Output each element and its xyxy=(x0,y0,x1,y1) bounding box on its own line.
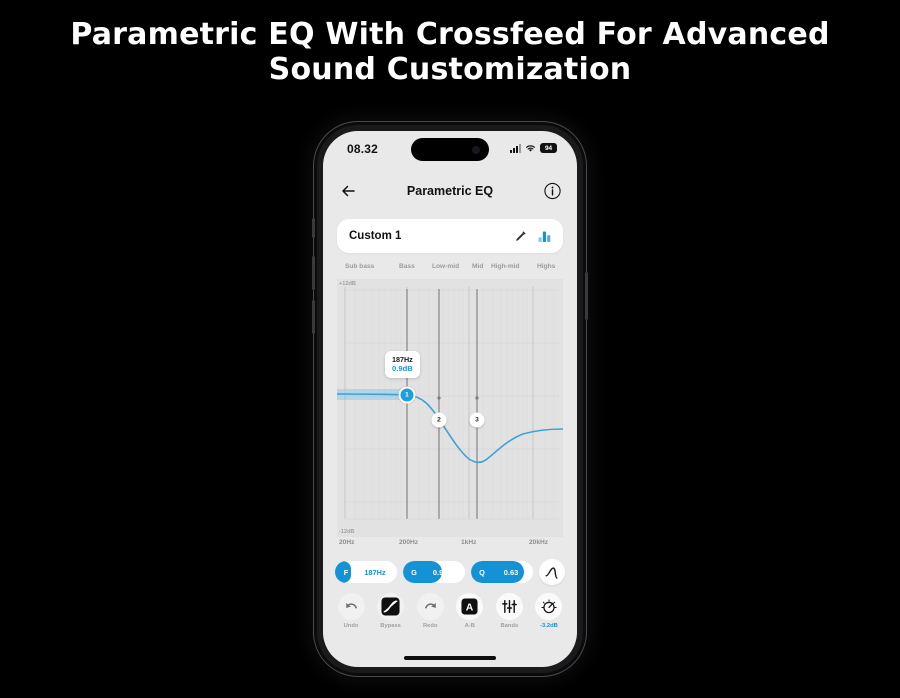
redo-icon-wrap xyxy=(417,593,444,620)
ab-compare-button[interactable]: A A-B xyxy=(452,593,488,629)
x-label-200hz: 200Hz xyxy=(399,539,418,546)
band-label-highs: Highs xyxy=(537,263,555,270)
wifi-icon xyxy=(525,144,536,153)
redo-button[interactable]: Redo xyxy=(412,593,448,629)
undo-button[interactable]: Undo xyxy=(333,593,369,629)
screen-title: Parametric EQ xyxy=(407,184,493,198)
headline-line-1: Parametric EQ With Crossfeed For Advance… xyxy=(70,17,829,52)
band-label-bass: Bass xyxy=(399,263,415,270)
front-camera-icon xyxy=(472,146,480,154)
page-title: Parametric EQ With Crossfeed For Advance… xyxy=(0,18,900,88)
back-arrow-icon[interactable] xyxy=(339,181,359,201)
gain-value: 0.9dB xyxy=(425,568,465,577)
power-button[interactable] xyxy=(585,272,588,320)
battery-indicator: 94 xyxy=(540,143,557,153)
frequency-control[interactable]: F 187Hz xyxy=(335,561,397,583)
preset-actions xyxy=(515,231,551,242)
x-label-20khz: 20kHz xyxy=(529,539,548,546)
band-label-high-mid: High-mid xyxy=(491,263,520,270)
status-bar: 08.32 94 xyxy=(323,131,577,173)
parameter-bar: F 187Hz G 0.9dB Q 0.63 xyxy=(335,559,565,585)
gain-control[interactable]: G 0.9dB xyxy=(403,561,465,583)
nav-bar: Parametric EQ xyxy=(323,173,577,209)
q-control[interactable]: Q 0.63 xyxy=(471,561,533,583)
bands-label: Bands xyxy=(501,623,519,629)
undo-arrow-icon xyxy=(344,600,359,614)
band-label-sub-bass: Sub bass xyxy=(345,263,374,270)
tooltip-gain: 0.9dB xyxy=(392,364,413,374)
eq-band-handle-1[interactable]: 1 xyxy=(399,387,416,404)
info-circle-icon[interactable] xyxy=(544,183,561,200)
redo-arrow-icon xyxy=(423,600,438,614)
cellular-signal-icon xyxy=(510,144,521,153)
ab-label: A-B xyxy=(465,623,475,629)
frequency-key: F xyxy=(335,568,357,577)
preset-bar[interactable]: Custom 1 xyxy=(337,219,563,253)
action-toolbar: Undo Bypass xyxy=(333,593,567,629)
ab-icon-wrap: A xyxy=(456,593,483,620)
silence-switch[interactable] xyxy=(312,218,315,238)
ab-compare-icon: A xyxy=(461,598,478,615)
eq-curve-icon xyxy=(545,565,560,580)
gain-key: G xyxy=(403,568,425,577)
bypass-icon-wrap xyxy=(377,593,404,620)
undo-icon-wrap xyxy=(338,593,365,620)
headline-line-2: Sound Customization xyxy=(0,53,900,88)
equalizer-bars-icon[interactable] xyxy=(538,231,551,242)
bands-button[interactable]: Bands xyxy=(491,593,527,629)
x-label-1khz: 1kHz xyxy=(461,539,476,546)
eq-band-handle-3[interactable]: 3 xyxy=(470,413,485,428)
undo-label: Undo xyxy=(344,623,359,629)
phone-screen: 08.32 94 Par xyxy=(323,131,577,667)
y-axis-min-label: -12dB xyxy=(339,529,355,535)
output-gain-label: -3.2dB xyxy=(540,623,558,629)
svg-text:A: A xyxy=(466,602,474,613)
redo-label: Redo xyxy=(423,623,438,629)
home-indicator[interactable] xyxy=(404,656,496,660)
band-tooltip: 187Hz 0.9dB xyxy=(385,351,420,378)
band-label-mid: Mid xyxy=(472,263,483,270)
tooltip-frequency: 187Hz xyxy=(392,355,413,364)
eq-curve-type-button[interactable] xyxy=(539,559,565,585)
status-indicators: 94 xyxy=(510,143,557,153)
eq-band-handle-2[interactable]: 2 xyxy=(432,413,447,428)
status-time: 08.32 xyxy=(347,142,378,156)
band-label-low-mid: Low-mid xyxy=(432,263,459,270)
screenshot-root: Parametric EQ With Crossfeed For Advance… xyxy=(0,0,900,698)
frequency-value: 187Hz xyxy=(357,568,397,577)
q-key: Q xyxy=(471,568,493,577)
eq-graph-canvas xyxy=(337,279,563,537)
band-label-row: Sub bass Bass Low-mid Mid High-mid Highs xyxy=(337,263,563,275)
pencil-icon[interactable] xyxy=(515,231,526,242)
x-label-20hz: 20Hz xyxy=(339,539,354,546)
bands-icon-wrap xyxy=(496,593,523,620)
phone-mockup: 08.32 94 Par xyxy=(314,122,586,676)
volume-up-button[interactable] xyxy=(312,256,315,290)
dynamic-island xyxy=(411,138,489,161)
x-axis-labels: 20Hz 200Hz 1kHz 20kHz xyxy=(337,539,563,551)
output-gain-button[interactable]: -3.2dB xyxy=(531,593,567,629)
preset-name: Custom 1 xyxy=(349,230,515,242)
y-axis-max-label: +12dB xyxy=(339,281,356,287)
bypass-button[interactable]: Bypass xyxy=(373,593,409,629)
bypass-icon xyxy=(381,597,400,616)
output-icon-wrap xyxy=(535,593,562,620)
sliders-icon xyxy=(502,599,517,614)
q-value: 0.63 xyxy=(493,568,533,577)
eq-graph[interactable]: +12dB -12dB 187Hz 0.9dB 1 2 3 xyxy=(337,279,563,537)
volume-down-button[interactable] xyxy=(312,300,315,334)
bypass-label: Bypass xyxy=(380,623,401,629)
output-knob-icon xyxy=(541,599,557,615)
